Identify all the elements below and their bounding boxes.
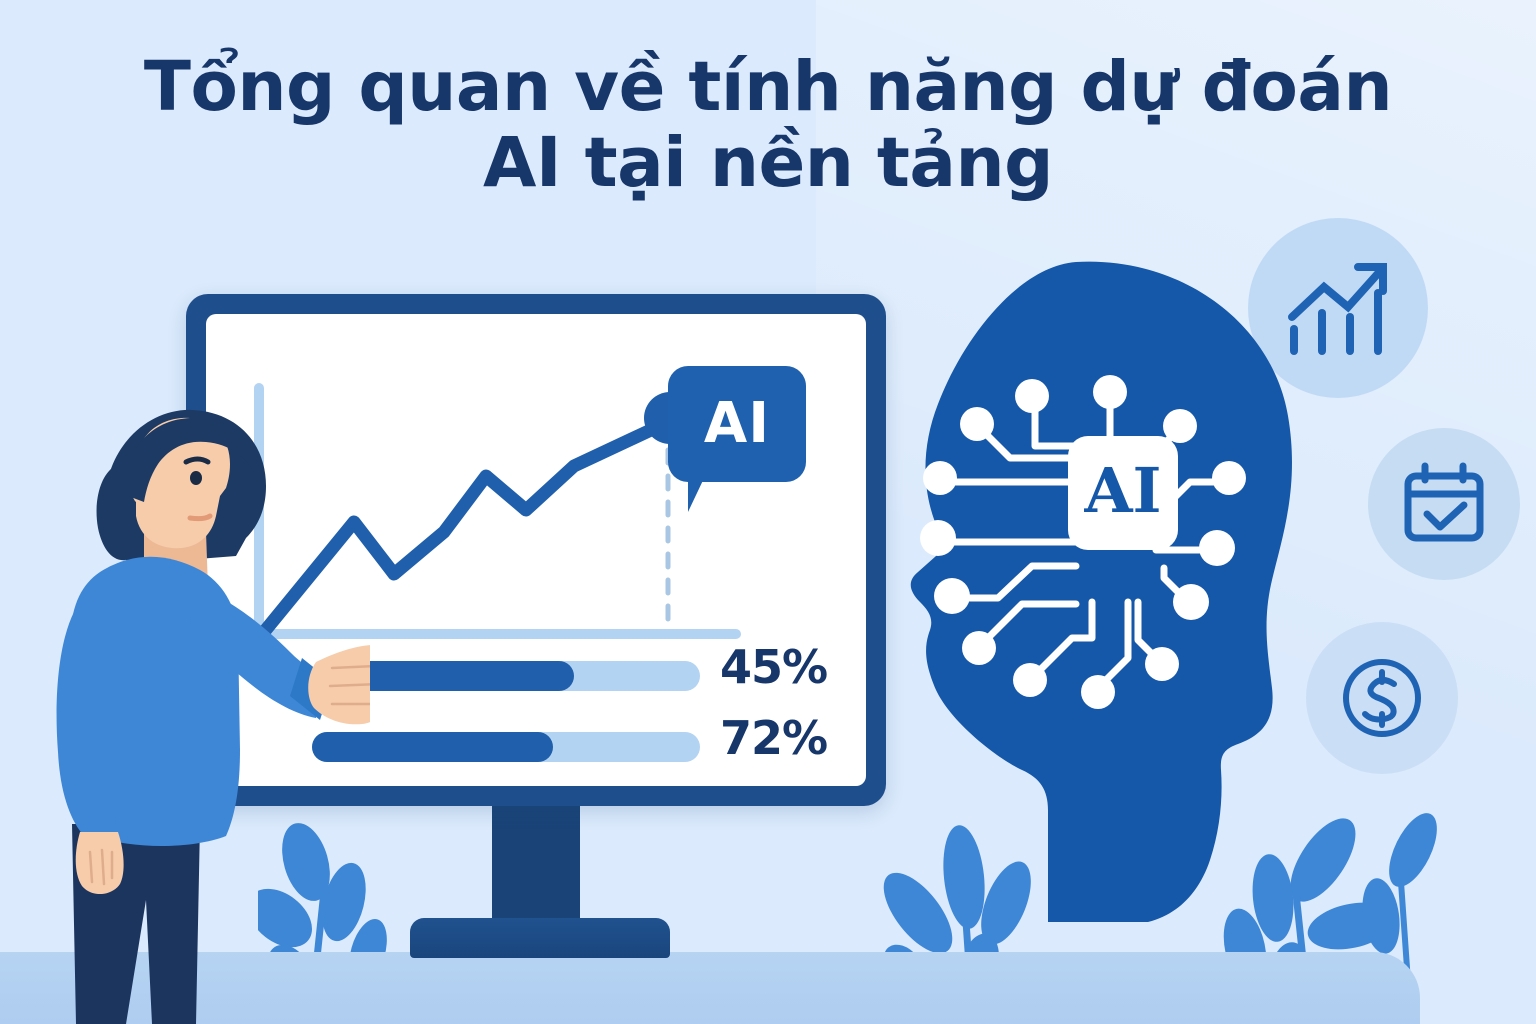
ai-chip-label: AI	[1083, 454, 1161, 527]
feature-circle-calendar	[1368, 428, 1520, 580]
dollar-coin-icon	[1334, 650, 1430, 746]
mouth	[190, 516, 210, 519]
eye	[190, 471, 202, 485]
hand-left	[76, 832, 124, 894]
title-line-1: Tổng quan về tính năng dự đoán	[0, 52, 1536, 124]
head-shape: AI	[880, 250, 1310, 930]
illustration-canvas: Tổng quan về tính năng dự đoán AI tại nề…	[0, 0, 1536, 1024]
progress-label-2: 72%	[720, 711, 827, 765]
ai-badge-tail	[688, 474, 706, 512]
ai-badge-bubble[interactable]: AI	[668, 366, 806, 482]
progress-label-1: 45%	[720, 640, 827, 694]
presenter-shape	[40, 400, 370, 1024]
calendar-check-icon	[1398, 458, 1490, 550]
monitor-neck	[492, 806, 580, 924]
monitor-base	[410, 918, 670, 958]
ai-head-silhouette: AI	[880, 250, 1310, 935]
page-title: Tổng quan về tính năng dự đoán AI tại nề…	[0, 52, 1536, 200]
ai-badge-label: AI	[704, 396, 770, 452]
title-line-2: AI tại nền tảng	[0, 128, 1536, 200]
feature-circle-money	[1306, 622, 1458, 774]
presenter-figure	[40, 400, 370, 1024]
